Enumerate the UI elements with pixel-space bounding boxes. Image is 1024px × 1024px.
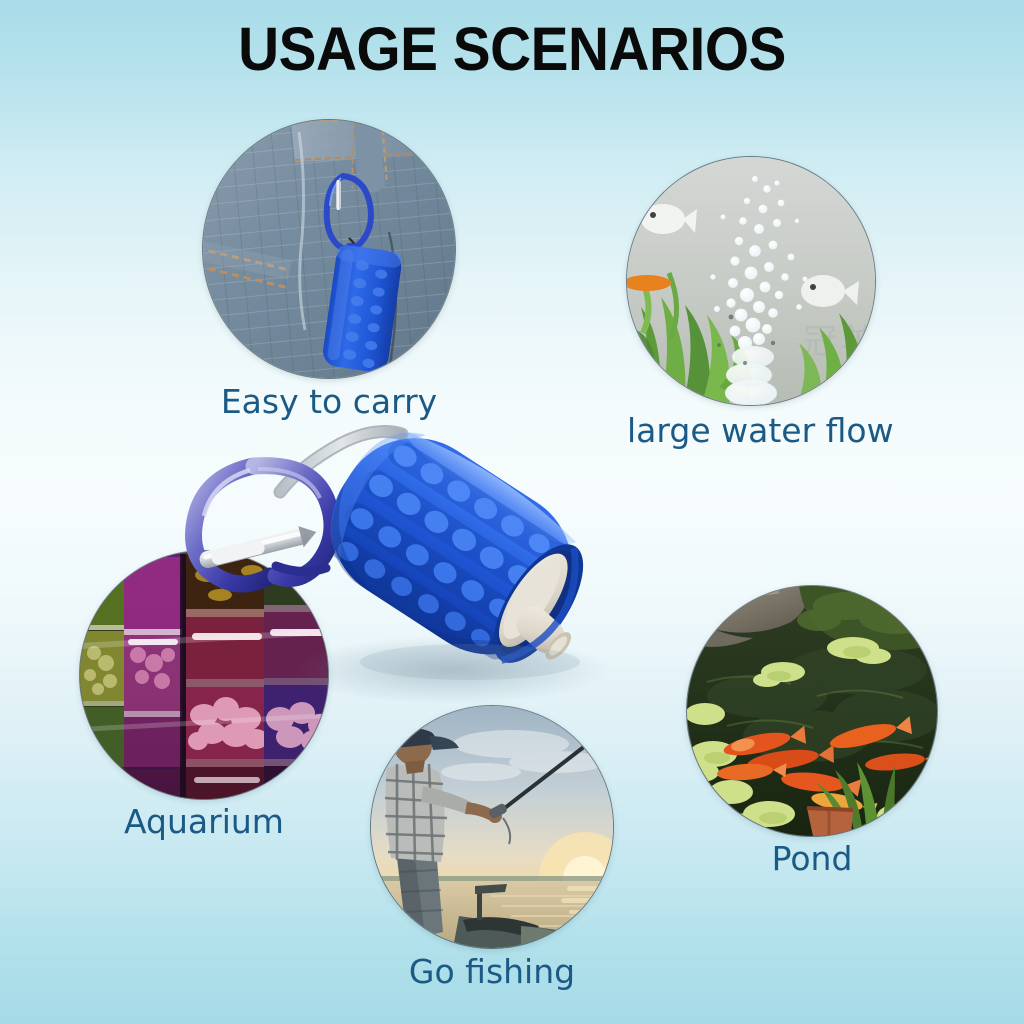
infographic-canvas: USAGE SCENARIOS bbox=[0, 0, 1024, 1024]
scene-image-go-fishing bbox=[371, 706, 613, 948]
scene-label-pond: Pond bbox=[687, 839, 937, 878]
scene-large-water-flow: 冠羊 bbox=[627, 157, 875, 405]
page-title: USAGE SCENARIOS bbox=[36, 14, 988, 84]
scene-label-aquarium: Aquarium bbox=[80, 802, 328, 841]
product-image-air-stone-pump bbox=[150, 370, 730, 720]
aquarium-bubble-column-icon: 冠羊 bbox=[627, 157, 875, 405]
denim-jeans-with-clipped-air-pump-icon bbox=[203, 120, 455, 378]
scene-go-fishing: Go fishing bbox=[371, 706, 613, 948]
scene-image-easy-to-carry bbox=[203, 120, 455, 378]
scene-image-large-water-flow: 冠羊 bbox=[627, 157, 875, 405]
air-stone-pump-illustration bbox=[150, 370, 730, 720]
scene-label-go-fishing: Go fishing bbox=[371, 952, 613, 991]
carabiner-icon bbox=[194, 466, 333, 584]
scene-easy-to-carry: Easy to carry bbox=[203, 120, 455, 378]
angler-on-boat-at-sunset-icon bbox=[371, 706, 613, 948]
